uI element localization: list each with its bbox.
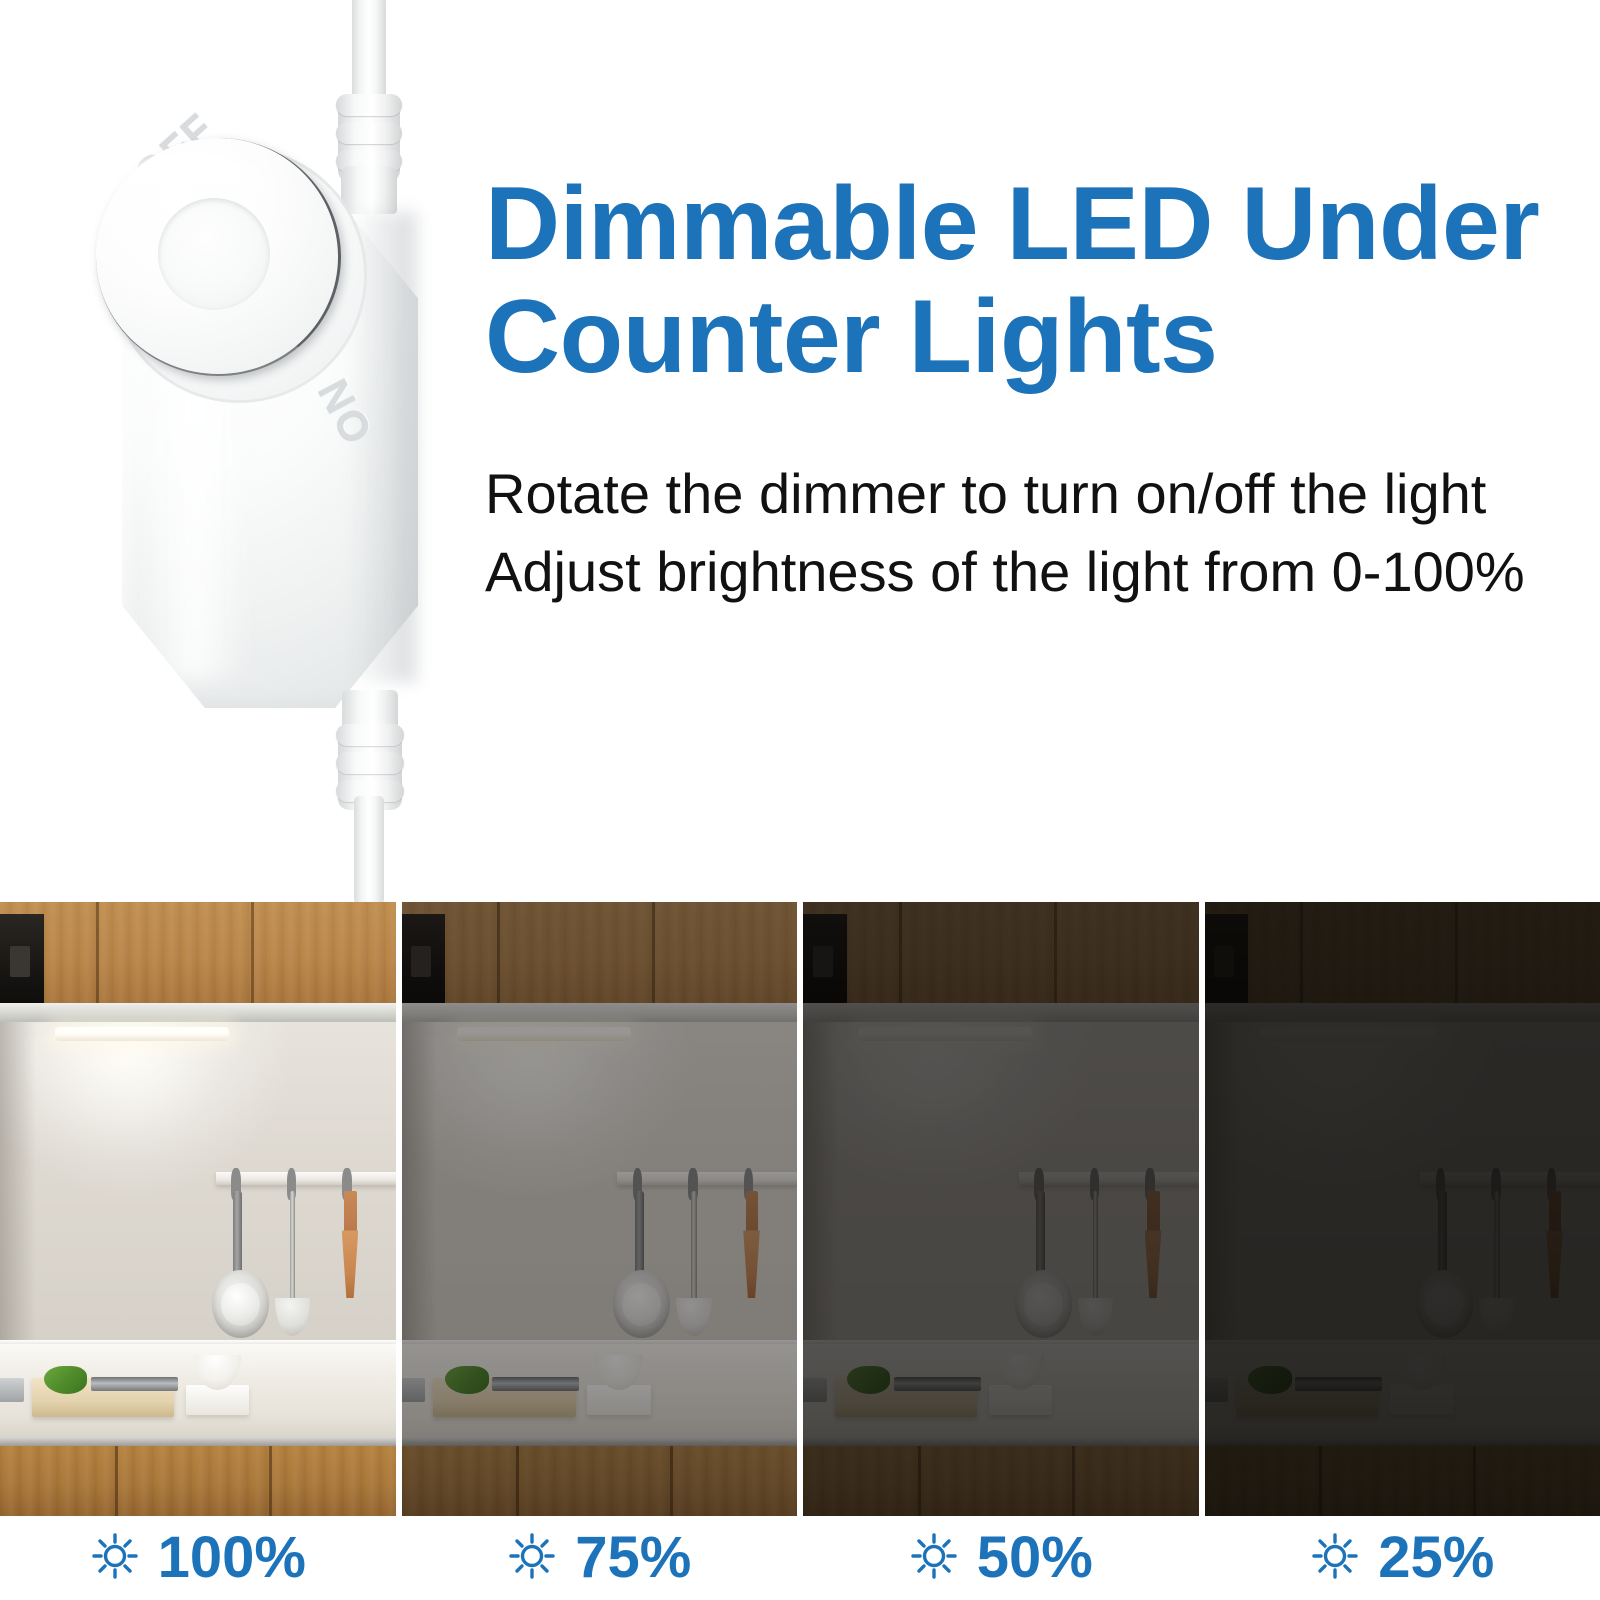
brightness-label-cell: 50%: [803, 1516, 1199, 1600]
product-marketing-image: OFF ON Dimmable LED Under Counter Lights…: [0, 0, 1600, 1600]
brightness-panel: [1205, 902, 1600, 1516]
built-in-appliance: [1205, 914, 1249, 1012]
sun-brightness-icon: [507, 1531, 557, 1586]
strain-relief-rib: [336, 122, 402, 144]
cabinet-seam: [497, 902, 500, 1006]
pan-handle: [233, 1191, 242, 1283]
hanging-frying-pan: [1416, 1270, 1473, 1338]
kitchen-scene: [0, 902, 396, 1516]
knife-handle: [1549, 1191, 1562, 1234]
pan-handle: [1036, 1191, 1045, 1283]
chef-knife-on-board: [492, 1377, 579, 1391]
kitchen-scene: [1205, 902, 1600, 1516]
appliance-panel: [1214, 946, 1234, 977]
brightness-label-row: 100% 75%: [0, 1516, 1600, 1600]
cabinet-seam: [1072, 1446, 1075, 1516]
upper-cabinets: [1205, 902, 1600, 1006]
led-under-cabinet-light: [55, 1027, 229, 1041]
cord-collar-top: [341, 166, 397, 214]
brightness-panel: [0, 902, 396, 1516]
chef-knife-on-board: [91, 1377, 178, 1391]
cabinet-seam: [918, 1446, 921, 1516]
knife-handle: [344, 1191, 357, 1234]
lower-cabinets: [1205, 1446, 1600, 1516]
strain-relief-rib: [336, 94, 402, 116]
wall-corner-shading: [1205, 1022, 1241, 1347]
headline-line-1: Dimmable LED Under: [485, 168, 1539, 280]
ladle-handle: [691, 1191, 697, 1308]
pan-interior: [622, 1283, 661, 1326]
pan-handle: [1438, 1191, 1447, 1283]
cabinet-seam: [96, 902, 99, 1006]
hanging-frying-pan: [1015, 1270, 1072, 1338]
chef-knife-on-board: [1295, 1377, 1382, 1391]
cabinet-seam: [1473, 1446, 1476, 1516]
sink-edge: [0, 1378, 24, 1403]
cabinet-seam: [516, 1446, 519, 1516]
utensil-hanging-rail: [1019, 1172, 1199, 1185]
utensil-hanging-rail: [1420, 1172, 1600, 1185]
built-in-appliance: [0, 914, 44, 1012]
ladle-handle: [290, 1191, 296, 1308]
cabinet-seam: [652, 902, 655, 1006]
cabinet-seam: [1319, 1446, 1322, 1516]
kitchen-scene: [402, 902, 798, 1516]
cabinet-seam: [269, 1446, 272, 1516]
wall-corner-shading: [803, 1022, 839, 1347]
brightness-percent-label: 100%: [158, 1529, 306, 1587]
knob-center-dimple: [158, 198, 270, 310]
hero-section: OFF ON Dimmable LED Under Counter Lights…: [0, 0, 1600, 902]
built-in-appliance: [803, 914, 847, 1012]
utensil-hanging-rail: [216, 1172, 396, 1185]
built-in-appliance: [402, 914, 446, 1012]
lower-cabinets: [803, 1446, 1199, 1516]
utensil-hanging-rail: [617, 1172, 797, 1185]
headline-line-2: Counter Lights: [485, 281, 1217, 393]
upper-cabinets: [803, 902, 1199, 1006]
lower-cabinets: [0, 1446, 396, 1516]
sink-edge: [402, 1378, 426, 1403]
hanging-frying-pan: [613, 1270, 670, 1338]
brightness-label-cell: 25%: [1205, 1516, 1600, 1600]
strain-relief-rib: [336, 752, 404, 774]
strain-relief-rib: [336, 724, 404, 746]
hanging-frying-pan: [212, 1270, 269, 1338]
sun-brightness-icon: [909, 1531, 959, 1586]
pan-interior: [221, 1283, 260, 1326]
led-under-cabinet-light: [858, 1027, 1032, 1041]
chef-knife-on-board: [894, 1377, 981, 1391]
cabinet-seam: [899, 902, 902, 1006]
brightness-panel: [402, 902, 798, 1516]
cabinet-seam: [1455, 902, 1458, 1006]
sun-brightness-icon: [1310, 1531, 1360, 1586]
pan-handle: [635, 1191, 644, 1283]
cabinet-seam: [115, 1446, 118, 1516]
led-under-cabinet-light: [457, 1027, 631, 1041]
appliance-panel: [10, 946, 30, 977]
cabinet-seam: [1054, 902, 1057, 1006]
ladle-handle: [1093, 1191, 1099, 1308]
appliance-panel: [411, 946, 431, 977]
upper-cabinets: [0, 902, 396, 1006]
power-cord-bottom: [354, 796, 384, 904]
knife-handle: [746, 1191, 759, 1234]
sun-brightness-icon: [90, 1531, 140, 1586]
dimmer-rotary-knob[interactable]: [96, 138, 341, 376]
wall-corner-shading: [0, 1022, 36, 1347]
knife-handle: [1147, 1191, 1160, 1234]
brightness-percent-label: 50%: [977, 1529, 1093, 1587]
cabinet-seam: [1300, 902, 1303, 1006]
kitchen-scene: [803, 902, 1199, 1516]
appliance-panel: [813, 946, 833, 977]
pan-interior: [1024, 1283, 1063, 1326]
pan-interior: [1425, 1283, 1464, 1326]
upper-cabinets: [402, 902, 798, 1006]
subtitle-line-2: Adjust brightness of the light from 0-10…: [485, 542, 1525, 602]
brightness-label-cell: 75%: [402, 1516, 798, 1600]
wall-corner-shading: [402, 1022, 438, 1347]
brightness-comparison-gallery: [0, 902, 1600, 1516]
subtitle-line-1: Rotate the dimmer to turn on/off the lig…: [485, 464, 1486, 524]
brightness-label-cell: 100%: [0, 1516, 396, 1600]
brightness-percent-label: 75%: [575, 1529, 691, 1587]
dimmer-device-illustration: OFF ON: [100, 0, 440, 900]
sink-edge: [1205, 1378, 1229, 1403]
brightness-panel: [803, 902, 1199, 1516]
cabinet-seam: [251, 902, 254, 1006]
lower-cabinets: [402, 1446, 798, 1516]
cabinet-seam: [670, 1446, 673, 1516]
led-under-cabinet-light: [1260, 1027, 1434, 1041]
sink-edge: [803, 1378, 827, 1403]
brightness-percent-label: 25%: [1378, 1529, 1494, 1587]
ladle-handle: [1494, 1191, 1500, 1308]
